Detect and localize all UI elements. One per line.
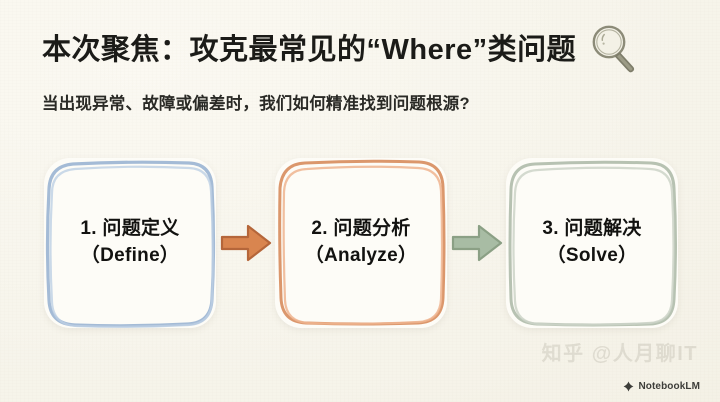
zhihu-watermark: 知乎 @人月聊IT [542, 337, 698, 366]
notebooklm-logo-icon [623, 381, 634, 392]
flow-step-label: 2. 问题分析 [311, 216, 410, 243]
arrow-right-icon [219, 216, 273, 270]
flow-step-sublabel: （Analyze） [305, 243, 418, 270]
title-row: 本次聚焦：攻克最常见的“Where”类问题 [42, 22, 682, 78]
flow-step-label: 1. 问题定义 [80, 216, 179, 243]
flow-step-sublabel: （Solve） [547, 243, 638, 270]
page-subtitle: 当出现异常、故障或偏差时，我们如何精准找到问题根源? [42, 90, 682, 114]
magnifier-icon [584, 20, 642, 78]
notebooklm-watermark: NotebookLM [623, 381, 700, 392]
process-flow: 1. 问题定义 （Define） 2. 问题分析 （Analyze） [44, 152, 678, 334]
flow-step-solve[interactable]: 3. 问题解决 （Solve） [506, 158, 678, 328]
flow-step-sublabel: （Define） [81, 243, 179, 270]
page-title: 本次聚焦：攻克最常见的“Where”类问题 [42, 33, 576, 68]
flow-step-define[interactable]: 1. 问题定义 （Define） [44, 158, 216, 328]
slide-canvas: 本次聚焦：攻克最常见的“Where”类问题 当出现异常、故障或偏差时，我们如何精… [0, 0, 720, 402]
arrow-right-icon [450, 216, 504, 270]
slide-header: 本次聚焦：攻克最常见的“Where”类问题 当出现异常、故障或偏差时，我们如何精… [42, 22, 682, 114]
flow-step-analyze[interactable]: 2. 问题分析 （Analyze） [275, 158, 447, 328]
notebooklm-label: NotebookLM [638, 381, 700, 392]
flow-step-label: 3. 问题解决 [542, 216, 641, 243]
